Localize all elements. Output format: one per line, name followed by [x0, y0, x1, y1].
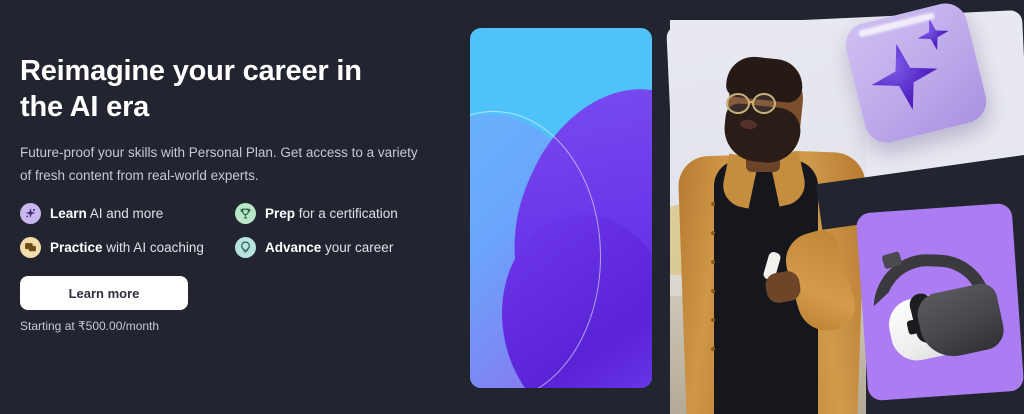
- sparkle-star-large-icon: [863, 36, 945, 118]
- feature-item-label: Learn AI and more: [50, 206, 163, 221]
- feature-item-advance: Advance your career: [235, 230, 435, 264]
- feature-item-learn: Learn AI and more: [20, 196, 235, 230]
- feature-rest-text: your career: [321, 240, 393, 255]
- glasses-bridge: [749, 101, 754, 103]
- media-collage: [462, 0, 1024, 414]
- feature-bold-word: Prep: [265, 206, 295, 221]
- feature-item-label: Prep for a certification: [265, 206, 398, 221]
- feature-rest-text: with AI coaching: [103, 240, 204, 255]
- learn-more-button[interactable]: Learn more: [20, 276, 188, 310]
- subheadline: Future-proof your skills with Personal P…: [20, 142, 420, 187]
- feature-rest-text: for a certification: [295, 206, 398, 221]
- feature-bold-word: Practice: [50, 240, 103, 255]
- sparkle-icon: [20, 203, 41, 224]
- vr-side-notch: [906, 319, 921, 335]
- feature-list: Learn AI and more Prep for a certificati…: [20, 196, 440, 264]
- glasses-right-lens: [752, 93, 776, 114]
- feature-item-prep: Prep for a certification: [235, 196, 435, 230]
- abstract-gradient-panel: [470, 28, 652, 388]
- feature-rest-text: AI and more: [87, 206, 164, 221]
- price-note: Starting at ₹500.00/month: [20, 319, 159, 333]
- copy-column: Reimagine your career in the AI era Futu…: [20, 54, 440, 187]
- shirt-buttons: [711, 202, 715, 402]
- glasses-left-lens: [726, 93, 750, 114]
- tile-gloss-highlight: [858, 12, 935, 38]
- feature-item-practice: Practice with AI coaching: [20, 230, 235, 264]
- trophy-icon: [235, 203, 256, 224]
- promo-banner: Reimagine your career in the AI era Futu…: [0, 0, 1024, 414]
- lightbulb-icon: [235, 237, 256, 258]
- feature-bold-word: Advance: [265, 240, 321, 255]
- vr-headset-panel: [856, 203, 1024, 401]
- chat-bubble-icon: [20, 237, 41, 258]
- feature-item-label: Advance your career: [265, 240, 393, 255]
- feature-bold-word: Learn: [50, 206, 87, 221]
- feature-item-label: Practice with AI coaching: [50, 240, 204, 255]
- page-title: Reimagine your career in the AI era: [20, 54, 390, 125]
